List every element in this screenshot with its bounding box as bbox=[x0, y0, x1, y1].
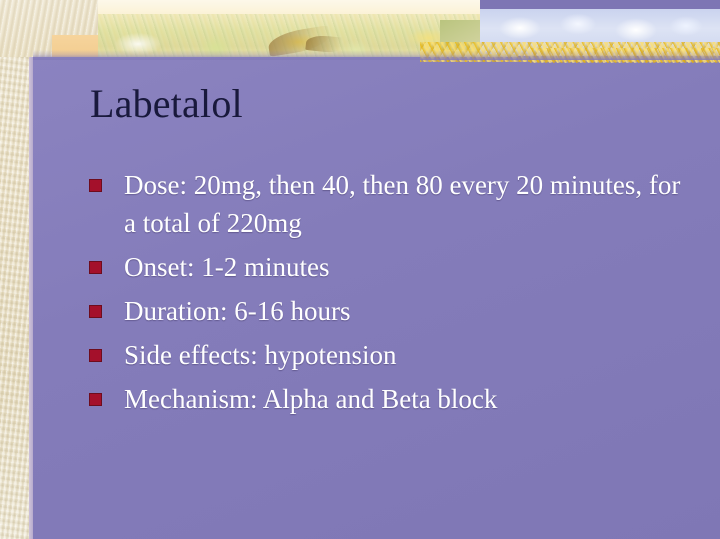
list-item: Mechanism: Alpha and Beta block bbox=[89, 380, 689, 418]
square-bullet-icon bbox=[89, 349, 102, 362]
bullet-text: Dose: 20mg, then 40, then 80 every 20 mi… bbox=[124, 166, 689, 242]
list-item: Dose: 20mg, then 40, then 80 every 20 mi… bbox=[89, 166, 689, 242]
header-purple-top-strip bbox=[480, 0, 720, 9]
slide-content: Labetalol Dose: 20mg, then 40, then 80 e… bbox=[33, 56, 720, 539]
bullet-text: Side effects: hypotension bbox=[124, 336, 689, 374]
square-bullet-icon bbox=[89, 393, 102, 406]
list-item: Side effects: hypotension bbox=[89, 336, 689, 374]
list-item: Duration: 6-16 hours bbox=[89, 292, 689, 330]
square-bullet-icon bbox=[89, 305, 102, 318]
left-margin-texture bbox=[0, 0, 29, 539]
slide-title: Labetalol bbox=[90, 82, 243, 126]
bullet-list: Dose: 20mg, then 40, then 80 every 20 mi… bbox=[89, 166, 689, 424]
square-bullet-icon bbox=[89, 179, 102, 192]
square-bullet-icon bbox=[89, 261, 102, 274]
bullet-text: Duration: 6-16 hours bbox=[124, 292, 689, 330]
list-item: Onset: 1-2 minutes bbox=[89, 248, 689, 286]
bullet-text: Onset: 1-2 minutes bbox=[124, 248, 689, 286]
bullet-text: Mechanism: Alpha and Beta block bbox=[124, 380, 689, 418]
presentation-slide: Labetalol Dose: 20mg, then 40, then 80 e… bbox=[0, 0, 720, 539]
